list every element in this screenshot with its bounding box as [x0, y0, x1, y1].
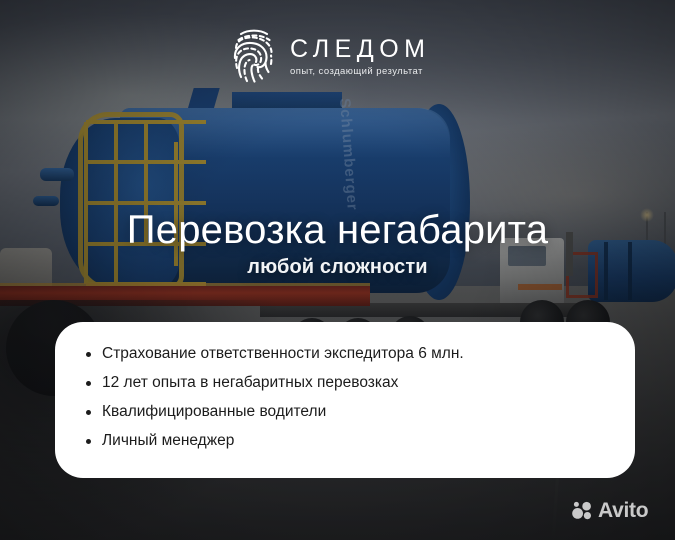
headline: Перевозка негабарита: [0, 210, 675, 250]
brand-name: СЛЕДОМ: [290, 37, 431, 62]
fingerprint-icon: [228, 27, 280, 83]
brand-logo: СЛЕДОМ опыт, создающий результат: [228, 27, 431, 83]
feature-item: Страхование ответственности экспедитора …: [102, 339, 635, 368]
avito-watermark: Avito: [572, 500, 648, 521]
brand-tagline: опыт, создающий результат: [290, 67, 431, 77]
avito-dots-icon: [572, 501, 594, 521]
avito-advert-image: Schlumberger: [0, 0, 675, 540]
feature-item: 12 лет опыта в негабаритных перевозках: [102, 368, 635, 397]
feature-card: Страхование ответственности экспедитора …: [55, 322, 635, 478]
brand-wordmark: СЛЕДОМ опыт, создающий результат: [290, 34, 431, 77]
subheadline: любой сложности: [0, 257, 675, 277]
avito-wordmark: Avito: [598, 500, 648, 521]
feature-item: Квалифицированные водители: [102, 397, 635, 426]
feature-list: Страхование ответственности экспедитора …: [55, 322, 635, 455]
feature-item: Личный менеджер: [102, 426, 635, 455]
